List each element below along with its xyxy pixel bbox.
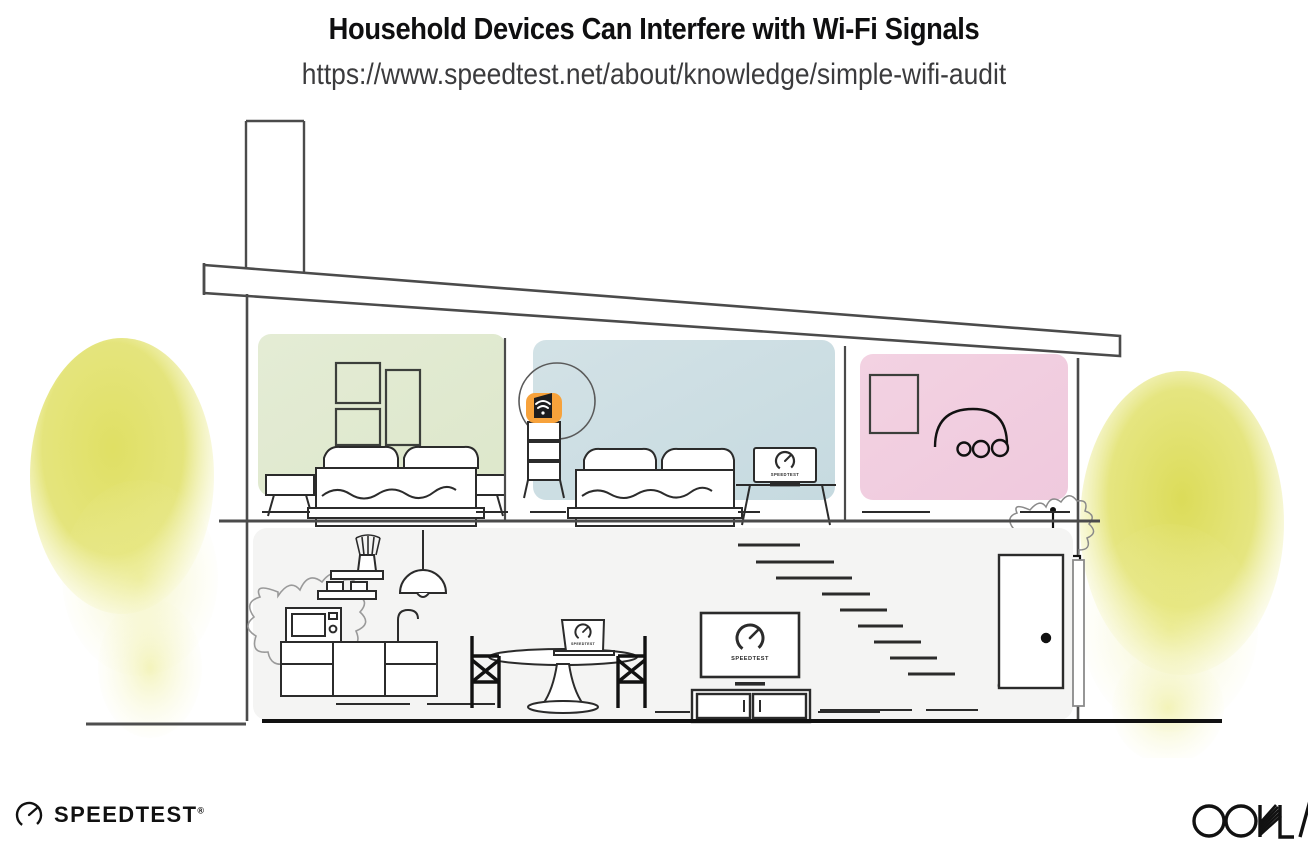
television-icon: SPEEDTEST bbox=[701, 613, 799, 686]
speedtest-gauge-icon bbox=[14, 800, 44, 830]
footer: SPEEDTEST® bbox=[0, 780, 1308, 861]
chimney bbox=[246, 121, 304, 272]
speedtest-logo: SPEEDTEST® bbox=[14, 800, 204, 830]
kitchen-counter-icon bbox=[281, 642, 437, 696]
bed-icon bbox=[308, 447, 484, 526]
source-url: https://www.speedtest.net/about/knowledg… bbox=[78, 49, 1229, 94]
speedtest-wordmark: SPEEDTEST® bbox=[54, 802, 204, 828]
foliage-left-icon bbox=[30, 338, 218, 738]
room-blue-bedroom: SPEEDTEST bbox=[519, 340, 836, 526]
microwave-icon bbox=[286, 608, 341, 642]
monitor-icon: SPEEDTEST bbox=[754, 448, 816, 486]
header: Household Devices Can Interfere with Wi-… bbox=[0, 0, 1308, 93]
monitor-logo-text: SPEEDTEST bbox=[771, 472, 800, 477]
nightstand-left-icon bbox=[266, 475, 314, 516]
page-title: Household Devices Can Interfere with Wi-… bbox=[78, 0, 1229, 49]
poster-page: Household Devices Can Interfere with Wi-… bbox=[0, 0, 1308, 861]
foliage-right-icon bbox=[1080, 371, 1284, 758]
laptop-logo-text: SPEEDTEST bbox=[571, 642, 596, 646]
bed-icon bbox=[568, 449, 742, 526]
house-illustration: SPEEDTEST bbox=[0, 108, 1308, 758]
kitchen-shelf-top bbox=[331, 571, 383, 579]
wifi-router-icon bbox=[526, 393, 562, 423]
ookla-logo bbox=[1190, 800, 1308, 847]
door-side-panel-icon bbox=[1073, 560, 1084, 706]
media-console-icon bbox=[692, 690, 810, 722]
room-green-bedroom bbox=[258, 334, 506, 526]
entry-door-icon bbox=[999, 555, 1063, 688]
speedtest-trademark: ® bbox=[197, 806, 204, 816]
tv-logo-text: SPEEDTEST bbox=[731, 656, 769, 662]
speedtest-wordmark-text: SPEEDTEST bbox=[54, 802, 197, 827]
ookla-wordmark-icon bbox=[1190, 800, 1308, 842]
